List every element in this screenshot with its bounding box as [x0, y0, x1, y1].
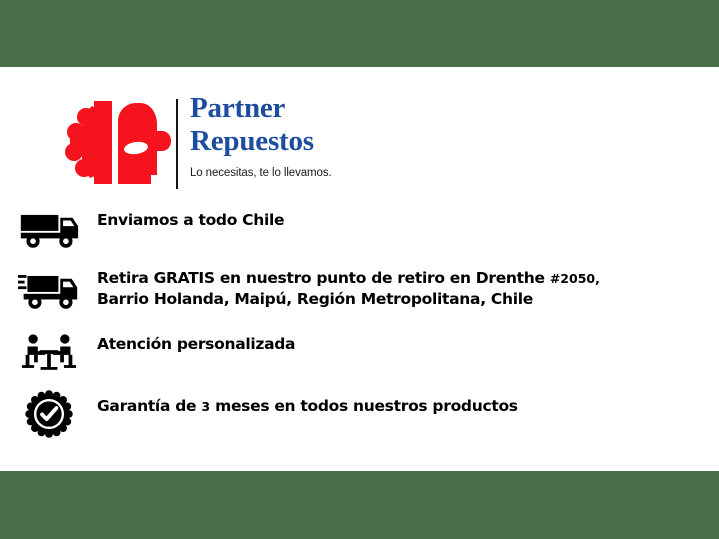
- delivery-truck-icon: [16, 206, 82, 252]
- bottom-green-band: [0, 471, 719, 539]
- list-item-label: Garantía de 3 meses en todos nuestros pr…: [97, 391, 719, 417]
- people-at-table-icon: [16, 330, 82, 376]
- list-item-label: Retira GRATIS en nuestro punto de retiro…: [97, 268, 719, 310]
- gear-car-logo-icon: [56, 95, 174, 190]
- warranty-text-after: meses en todos nuestros productos: [210, 397, 518, 415]
- warranty-text-before: Garantía de: [97, 397, 201, 415]
- pickup-text-after: Barrio Holanda, Maipú, Región Metropolit…: [97, 290, 533, 308]
- logo-line-1: Partner: [190, 92, 390, 125]
- list-item-label: Atención personalizada: [97, 330, 719, 355]
- top-green-band: [0, 0, 719, 67]
- logo-wordmark: Partner Repuestos Lo necesitas, te lo ll…: [190, 92, 390, 179]
- pickup-text-before: Retira GRATIS en nuestro punto de retiro…: [97, 269, 550, 287]
- pickup-street-number: #2050,: [550, 271, 600, 286]
- list-item: Enviamos a todo Chile: [0, 206, 719, 252]
- promo-banner: Partner Repuestos Lo necesitas, te lo ll…: [0, 0, 719, 539]
- list-item: Atención personalizada: [0, 330, 719, 376]
- warranty-months-number: 3: [201, 399, 210, 414]
- brand-logo[interactable]: Partner Repuestos Lo necesitas, te lo ll…: [56, 92, 386, 192]
- logo-tagline: Lo necesitas, te lo llevamos.: [190, 167, 390, 179]
- list-item-label: Enviamos a todo Chile: [97, 206, 719, 231]
- list-item: Garantía de 3 meses en todos nuestros pr…: [0, 391, 719, 437]
- guarantee-badge-check-icon: [16, 391, 82, 437]
- logo-line-2: Repuestos: [190, 125, 390, 158]
- moving-truck-icon: [16, 268, 82, 314]
- logo-divider: [176, 99, 178, 189]
- list-item: Retira GRATIS en nuestro punto de retiro…: [0, 268, 719, 314]
